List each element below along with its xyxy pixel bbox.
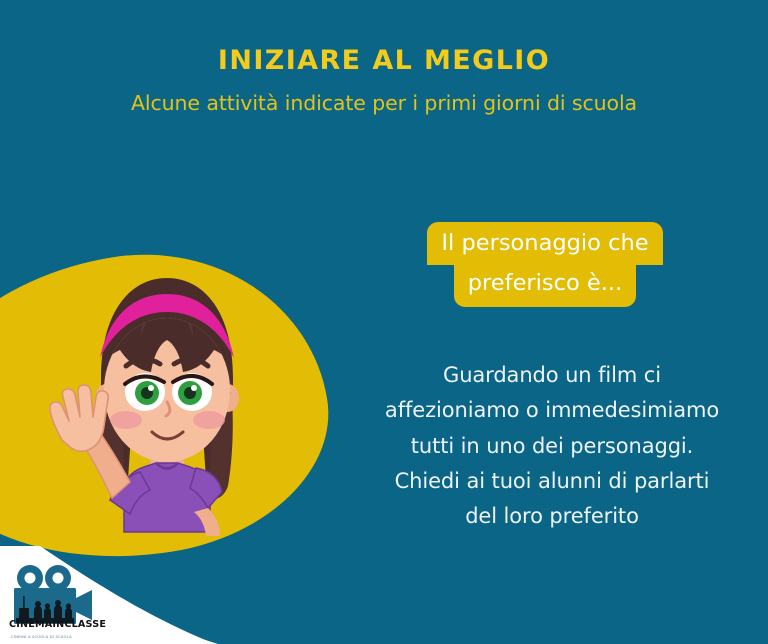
page-title: INIZIARE AL MEGLIO <box>0 46 768 76</box>
header-block: INIZIARE AL MEGLIO Alcune attività indic… <box>0 46 768 114</box>
waving-girl-illustration <box>0 250 340 550</box>
body-line: tutti in uno dei personaggi. <box>352 429 752 464</box>
bubble-row-2: preferisco è... <box>380 265 710 307</box>
bubble-row-1: Il personaggio che <box>380 222 710 265</box>
eye-left <box>125 373 165 411</box>
page-subtitle: Alcune attività indicate per i primi gio… <box>0 92 768 115</box>
body-line: Guardando un film ci <box>352 358 752 393</box>
poster-canvas: INIZIARE AL MEGLIO Alcune attività indic… <box>0 0 768 644</box>
body-paragraph: Guardando un film ci affezioniamo o imme… <box>352 358 752 534</box>
blush-right <box>193 411 225 429</box>
waving-hand <box>50 385 108 451</box>
speech-bubble: Il personaggio che preferisco è... <box>380 222 710 307</box>
body-line: del loro preferito <box>352 499 752 534</box>
bubble-line-1: Il personaggio che <box>427 222 662 265</box>
blush-left <box>110 411 142 429</box>
bubble-line-2: preferisco è... <box>454 265 636 307</box>
logo-wordmark: CINEMAINCLASSE <box>9 619 106 630</box>
body-line: Chiedi ai tuoi alunni di parlarti <box>352 464 752 499</box>
body-line: affezioniamo o immedesimiamo <box>352 393 752 428</box>
cinemainclasse-logo[interactable]: CINEMAINCLASSE CINEMA A SCUOLA DI SCUOLA <box>8 564 108 642</box>
logo-tagline: CINEMA A SCUOLA DI SCUOLA <box>11 635 72 639</box>
eye-right <box>172 373 212 411</box>
